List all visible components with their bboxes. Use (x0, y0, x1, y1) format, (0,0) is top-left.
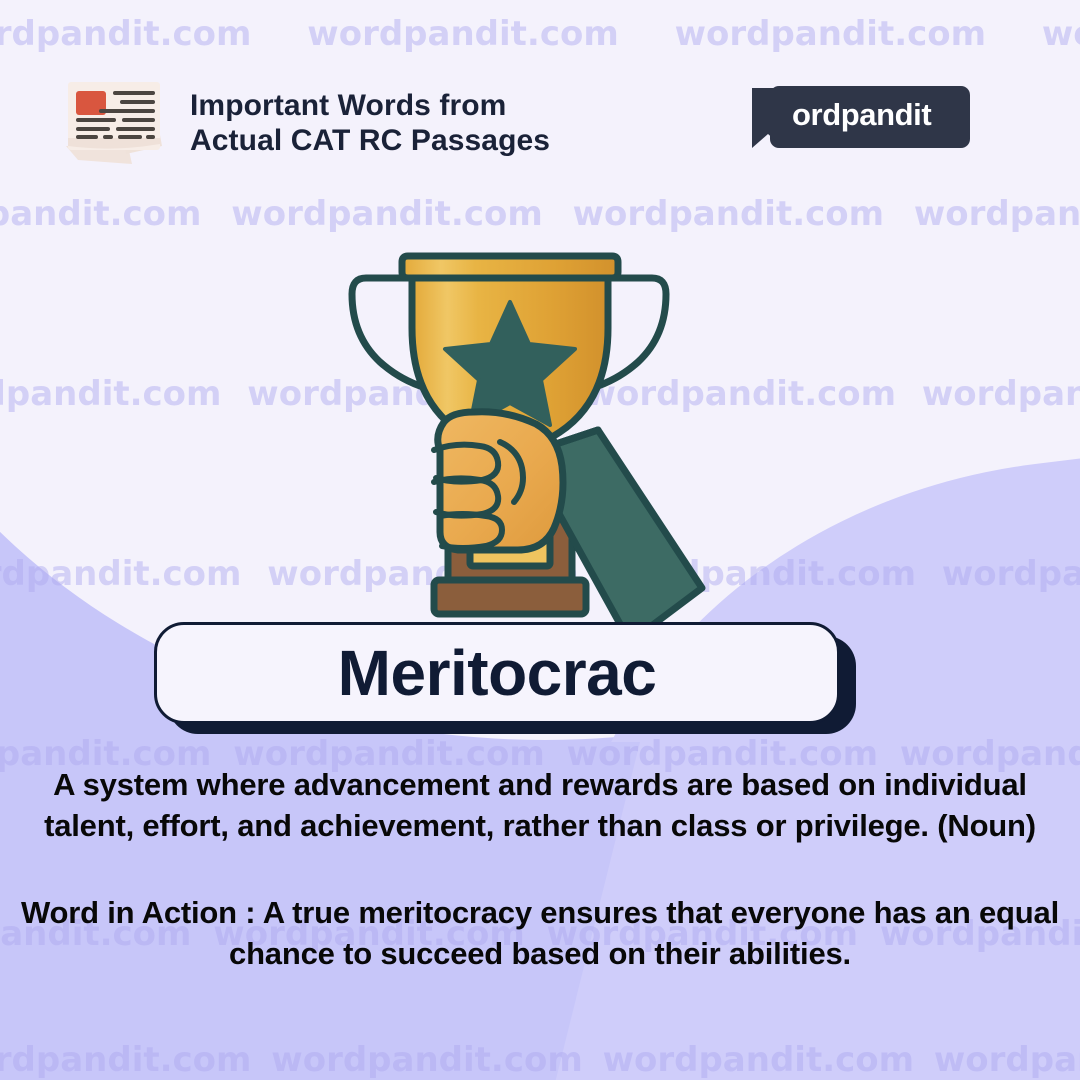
word-card-body: Meritocrac (154, 622, 840, 724)
wordpandit-logo[interactable]: ordpandit (748, 86, 970, 148)
bookmark-icon (748, 86, 788, 156)
header-title-line2: Actual CAT RC Passages (190, 123, 550, 158)
newspaper-icon (58, 72, 176, 172)
word-card: Meritocrac (154, 622, 854, 734)
vocabulary-word: Meritocrac (338, 636, 657, 710)
definition-text: A system where advancement and rewards a… (18, 764, 1062, 846)
header: Important Words from Actual CAT RC Passa… (0, 0, 1080, 190)
hand-holding-trophy-illustration (330, 250, 750, 650)
page-title: Important Words from Actual CAT RC Passa… (190, 88, 550, 158)
word-in-action-text: Word in Action : A true meritocracy ensu… (18, 892, 1062, 974)
word-card-graphic: wordpandit.com wordpandit.com wordpandit… (0, 0, 1080, 1080)
header-title-line1: Important Words from (190, 89, 506, 122)
logo-text: ordpandit (792, 97, 931, 133)
